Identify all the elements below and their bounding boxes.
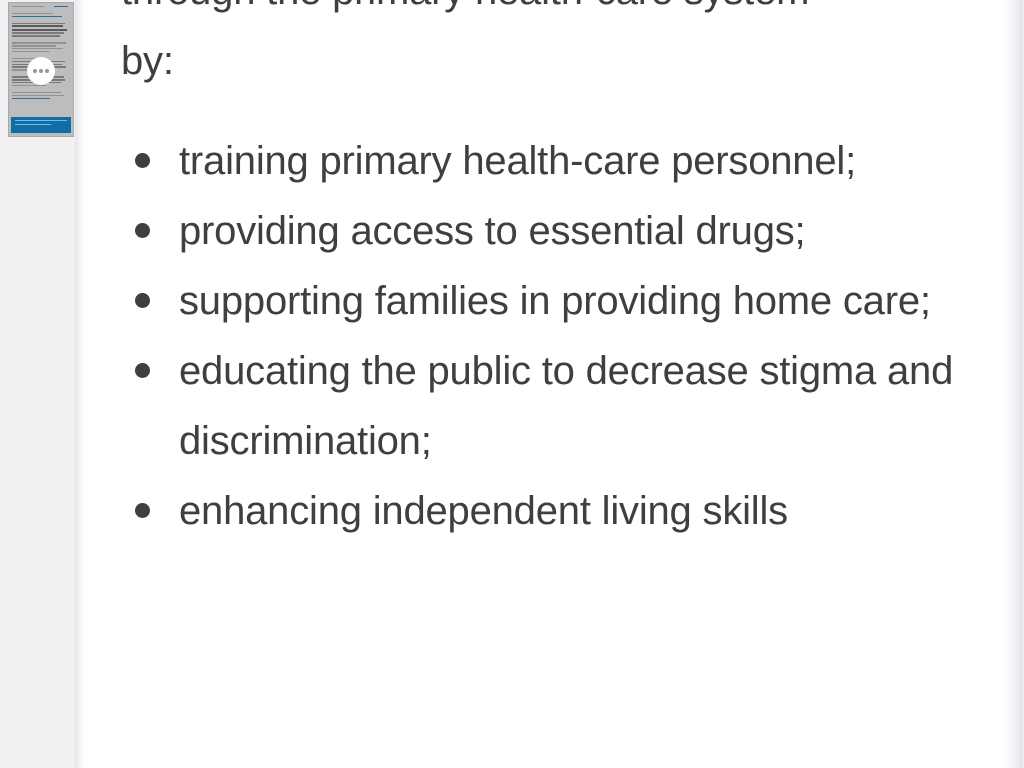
bullet-icon [135, 293, 150, 308]
document-scroll-area[interactable]: through the primary health-care system b… [85, 0, 1024, 768]
list-item: educating the public to decrease stigma … [121, 336, 984, 476]
list-item-label: providing access to essential drugs; [179, 209, 805, 253]
document-viewer: through the primary health-care system b… [0, 0, 1024, 768]
page-thumbnail-1[interactable] [8, 2, 74, 137]
bulleted-list: training primary health-care personnel; … [121, 126, 984, 546]
list-item: supporting families in providing home ca… [121, 266, 984, 336]
bullet-icon [135, 153, 150, 168]
sidebar-divider [75, 0, 85, 768]
thumbnail-footer-banner [11, 117, 71, 133]
page-thumbnail-sidebar[interactable] [0, 0, 85, 768]
bullet-icon [135, 363, 150, 378]
bullet-icon [135, 223, 150, 238]
paragraph-line-1: through the primary health-care system [121, 0, 984, 26]
list-item: providing access to essential drugs; [121, 196, 984, 266]
loading-dots-icon [27, 57, 55, 85]
list-item: training primary health-care personnel; [121, 126, 984, 196]
list-item-label: supporting families in providing home ca… [179, 279, 931, 323]
list-item-label: educating the public to decrease stigma … [179, 349, 953, 463]
list-item-label: enhancing independent living skills [179, 489, 788, 533]
page-right-edge-shadow [1002, 0, 1024, 768]
list-item: enhancing independent living skills [121, 476, 984, 546]
list-item-label: training primary health-care personnel; [179, 139, 856, 183]
paragraph-line-2: by: [121, 26, 984, 96]
document-text-body: through the primary health-care system b… [121, 0, 984, 546]
bullet-icon [135, 503, 150, 518]
document-page: through the primary health-care system b… [85, 0, 1024, 768]
